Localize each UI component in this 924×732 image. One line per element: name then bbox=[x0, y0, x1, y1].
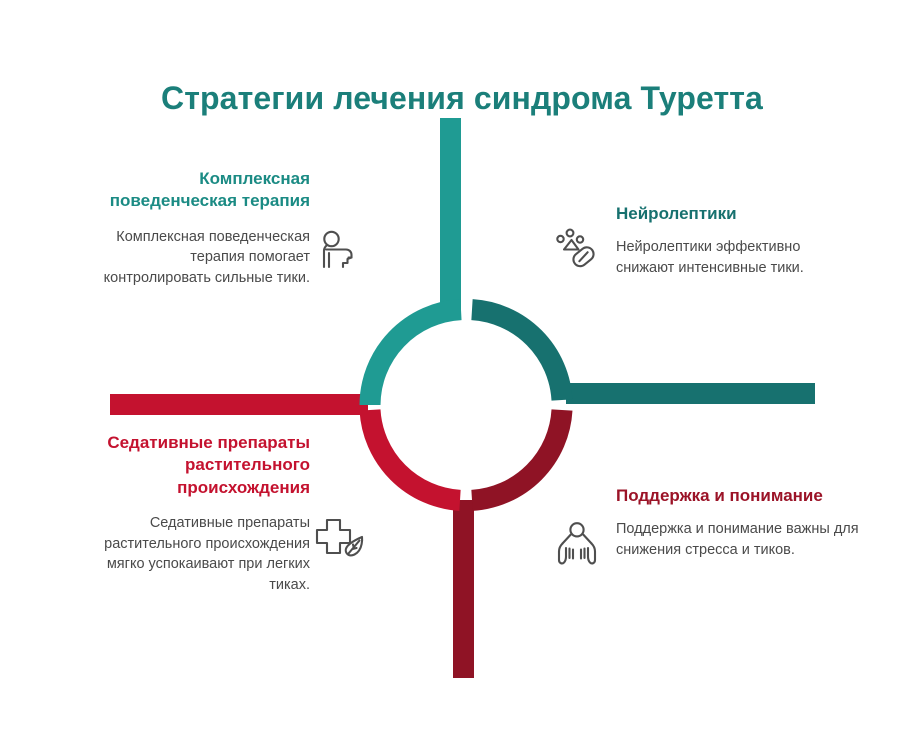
spoke-top bbox=[440, 118, 461, 318]
spoke-right bbox=[566, 383, 815, 404]
arc-top-left bbox=[370, 310, 461, 405]
quadrant-herbal-sedatives: Седативные препараты растительного проис… bbox=[86, 432, 310, 596]
arc-bottom-left bbox=[370, 410, 460, 500]
quadrant-heading-support-understanding: Поддержка и понимание bbox=[616, 485, 864, 507]
page-title: Стратегии лечения синдрома Туретта bbox=[0, 79, 924, 117]
arc-top-right bbox=[472, 310, 562, 400]
spoke-left bbox=[110, 394, 368, 415]
quadrant-heading-behavioral-therapy: Комплексная поведенческая терапия bbox=[96, 168, 310, 213]
quadrant-behavioral-therapy: Комплексная поведенческая терапия Компле… bbox=[96, 168, 310, 289]
medical-cross-leaf-icon bbox=[312, 517, 368, 563]
quadrant-support-understanding: Поддержка и понимание Поддержка и понима… bbox=[616, 485, 864, 561]
quadrant-heading-herbal-sedatives: Седативные препараты растительного проис… bbox=[86, 432, 310, 499]
spoke-bottom bbox=[453, 500, 474, 678]
person-therapy-icon bbox=[313, 226, 361, 274]
supporting-hands-icon bbox=[553, 521, 601, 569]
pills-icon bbox=[552, 224, 600, 272]
quadrant-body-behavioral-therapy: Комплексная поведенческая терапия помога… bbox=[96, 227, 310, 289]
arc-bottom-right bbox=[472, 410, 562, 500]
infographic-canvas: Стратегии лечения синдрома Туретта bbox=[0, 0, 924, 732]
quadrant-body-neuroleptics: Нейролептики эффективно снижают интенсив… bbox=[616, 237, 846, 278]
quadrant-body-herbal-sedatives: Седативные препараты растительного проис… bbox=[86, 513, 310, 595]
quadrant-neuroleptics: Нейролептики Нейролептики эффективно сни… bbox=[616, 203, 846, 279]
quadrant-heading-neuroleptics: Нейролептики bbox=[616, 203, 846, 225]
quadrant-body-support-understanding: Поддержка и понимание важны для снижения… bbox=[616, 519, 864, 560]
